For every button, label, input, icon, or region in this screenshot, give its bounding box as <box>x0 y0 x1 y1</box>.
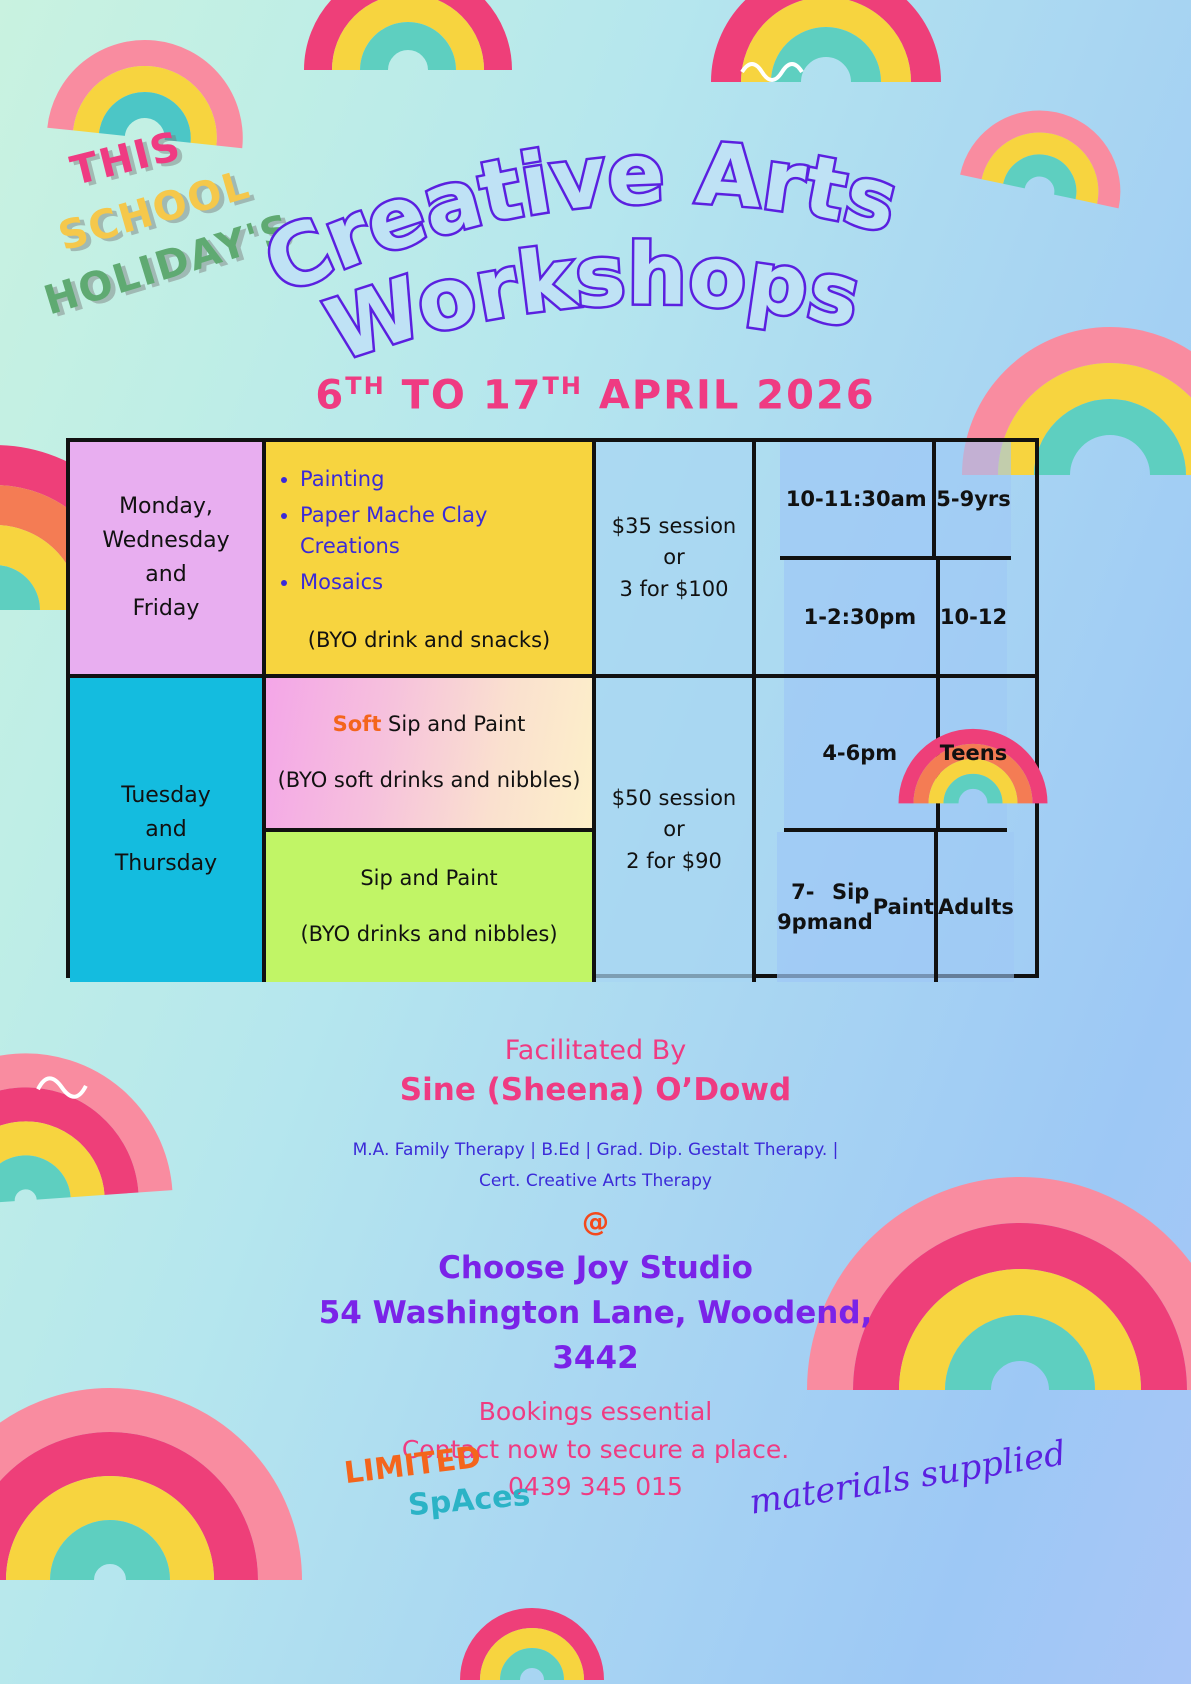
soft-title-rest: Sip and Paint <box>388 712 525 736</box>
session-row: 4-6pm Teens <box>784 678 1007 832</box>
activity-reg-title: Sip and Paint <box>360 862 497 896</box>
at-symbol-icon: @ <box>0 1207 1191 1238</box>
list-item: Painting <box>300 464 574 496</box>
list-item: Paper Mache Clay Creations <box>300 500 574 563</box>
cell-sessions-row2: 4-6pm Teens 7-9pmSip andPaint Adults <box>756 678 1035 982</box>
cell-activities-row1: Painting Paper Mache Clay Creations Mosa… <box>266 442 596 674</box>
session-row: 1-2:30pm 10-12 <box>784 560 1007 674</box>
poster-footer: Facilitated By Sine (Sheena) O’Dowd M.A.… <box>0 1035 1191 1506</box>
date-start-day: 6 <box>315 372 345 418</box>
poster-title: Creative Arts Workshops <box>250 92 970 382</box>
facilitator-name: Sine (Sheena) O’Dowd <box>0 1072 1191 1108</box>
cell-price-row1: $35 sessionor3 for $100 <box>596 442 756 674</box>
rainbow-bottom-center <box>470 1618 594 1680</box>
facilitated-by-label: Facilitated By <box>0 1035 1191 1066</box>
session-row: 10-11:30am 5-9yrs <box>780 442 1010 560</box>
bookings-essential: Bookings essential <box>0 1393 1191 1431</box>
activity-soft-title: Soft Sip and Paint <box>333 708 526 742</box>
table-row: TuesdayandThursday Soft Sip and Paint (B… <box>70 678 1035 982</box>
session-row: 7-9pmSip andPaint Adults <box>777 832 1014 982</box>
cell-age-row2-session2: Adults <box>938 832 1014 982</box>
activity-soft-note: (BYO soft drinks and nibbles) <box>278 764 581 798</box>
rainbow-top-right <box>726 0 926 82</box>
cell-age-row1-session1: 5-9yrs <box>936 442 1010 556</box>
venue-name: Choose Joy Studio <box>0 1246 1191 1291</box>
activity-reg-note: (BYO drinks and nibbles) <box>300 918 557 952</box>
rainbow-corner-top-right <box>971 108 1122 206</box>
cell-time-row1-session2: 1-2:30pm <box>784 560 940 674</box>
cell-price-row2: $50 sessionor2 for $90 <box>596 678 756 982</box>
workshop-schedule-table: Monday,WednesdayandFriday Painting Paper… <box>66 438 1039 978</box>
date-end-day: 17 <box>483 372 543 418</box>
list-item: Mosaics <box>300 567 574 599</box>
activity-note-row1: (BYO drink and snacks) <box>284 628 574 652</box>
cell-activities-row2: Soft Sip and Paint (BYO soft drinks and … <box>266 678 596 982</box>
cell-age-row2-session1: Teens <box>940 678 1007 828</box>
activity-sip-and-paint: Sip and Paint (BYO drinks and nibbles) <box>266 832 592 982</box>
cell-age-row1-session2: 10-12 <box>940 560 1007 674</box>
date-month-year: APRIL 2026 <box>599 372 876 418</box>
table-row: Monday,WednesdayandFriday Painting Paper… <box>70 442 1035 678</box>
date-start-ordinal: TH <box>345 372 385 400</box>
cell-time-row2-session2: 7-9pmSip andPaint <box>777 832 938 982</box>
cell-sessions-row1: 10-11:30am 5-9yrs 1-2:30pm 10-12 <box>756 442 1035 674</box>
venue-postcode: 3442 <box>0 1336 1191 1381</box>
soft-label: Soft <box>333 712 382 736</box>
cell-days-row2: TuesdayandThursday <box>70 678 266 982</box>
date-end-ordinal: TH <box>543 372 583 400</box>
date-connector: TO <box>402 372 467 418</box>
activity-list-row1: Painting Paper Mache Clay Creations Mosa… <box>300 464 574 602</box>
facilitator-qualifications-line2: Cert. Creative Arts Therapy <box>0 1169 1191 1194</box>
facilitator-qualifications-line1: M.A. Family Therapy | B.Ed | Grad. Dip. … <box>0 1138 1191 1163</box>
cell-days-row1: Monday,WednesdayandFriday <box>70 442 266 674</box>
venue-address: 54 Washington Lane, Woodend, <box>0 1291 1191 1336</box>
age-label-teens: Teens <box>940 741 1007 765</box>
date-range: 6TH TO 17TH APRIL 2026 <box>0 372 1191 418</box>
activity-soft-sip: Soft Sip and Paint (BYO soft drinks and … <box>266 678 592 832</box>
cell-time-row1-session1: 10-11:30am <box>780 442 936 556</box>
rainbow-top-center <box>318 0 498 70</box>
